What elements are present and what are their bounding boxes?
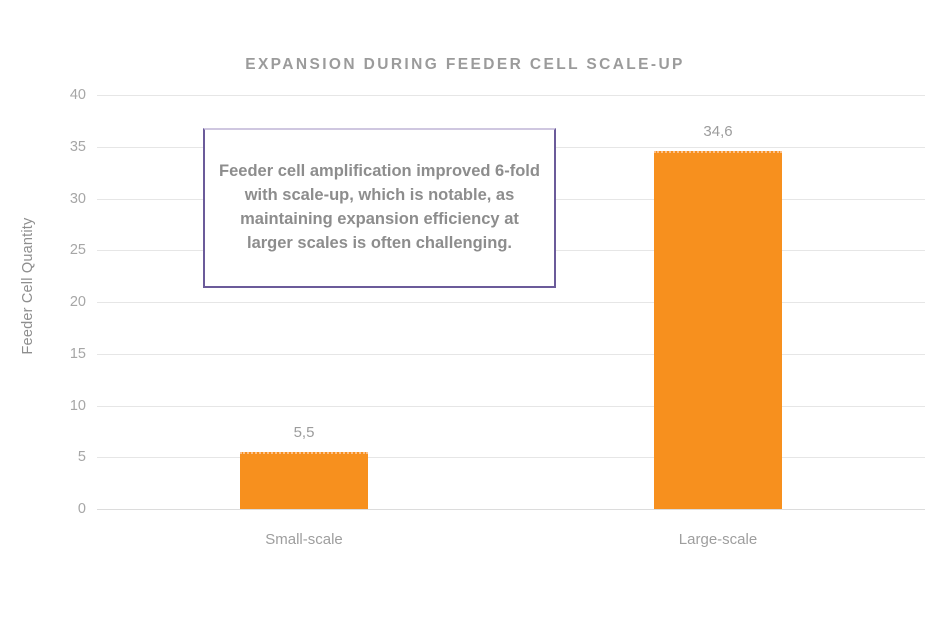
gridline (97, 95, 925, 96)
bar-small-scale[interactable] (240, 452, 368, 509)
annotation-callout: Feeder cell amplification improved 6-fol… (203, 128, 556, 288)
y-axis-tick-label: 20 (48, 294, 86, 310)
y-axis-title: Feeder Cell Quantity (20, 196, 36, 376)
y-axis-tick-label: 15 (48, 346, 86, 362)
y-axis-tick-label: 30 (48, 191, 86, 207)
gridline (97, 354, 925, 355)
y-axis-tick-label: 5 (48, 449, 86, 465)
gridline (97, 406, 925, 407)
y-axis-tick-label: 35 (48, 139, 86, 155)
bar-value-label: 5,5 (294, 424, 315, 441)
bar-large-scale[interactable] (654, 151, 782, 509)
chart-title: EXPANSION DURING FEEDER CELL SCALE-UP (0, 56, 930, 74)
y-axis-tick-label: 25 (48, 242, 86, 258)
gridline (97, 457, 925, 458)
bar-value-label: 34,6 (703, 123, 732, 140)
annotation-text: Feeder cell amplification improved 6-fol… (205, 160, 554, 256)
x-axis-category-label: Small-scale (265, 531, 343, 548)
y-axis-tick-label: 0 (48, 501, 86, 517)
bar-chart: EXPANSION DURING FEEDER CELL SCALE-UP Fe… (0, 0, 930, 620)
gridline (97, 302, 925, 303)
gridline (97, 509, 925, 510)
x-axis-category-label: Large-scale (679, 531, 757, 548)
y-axis-tick-label: 10 (48, 398, 86, 414)
y-axis-tick-label: 40 (48, 87, 86, 103)
